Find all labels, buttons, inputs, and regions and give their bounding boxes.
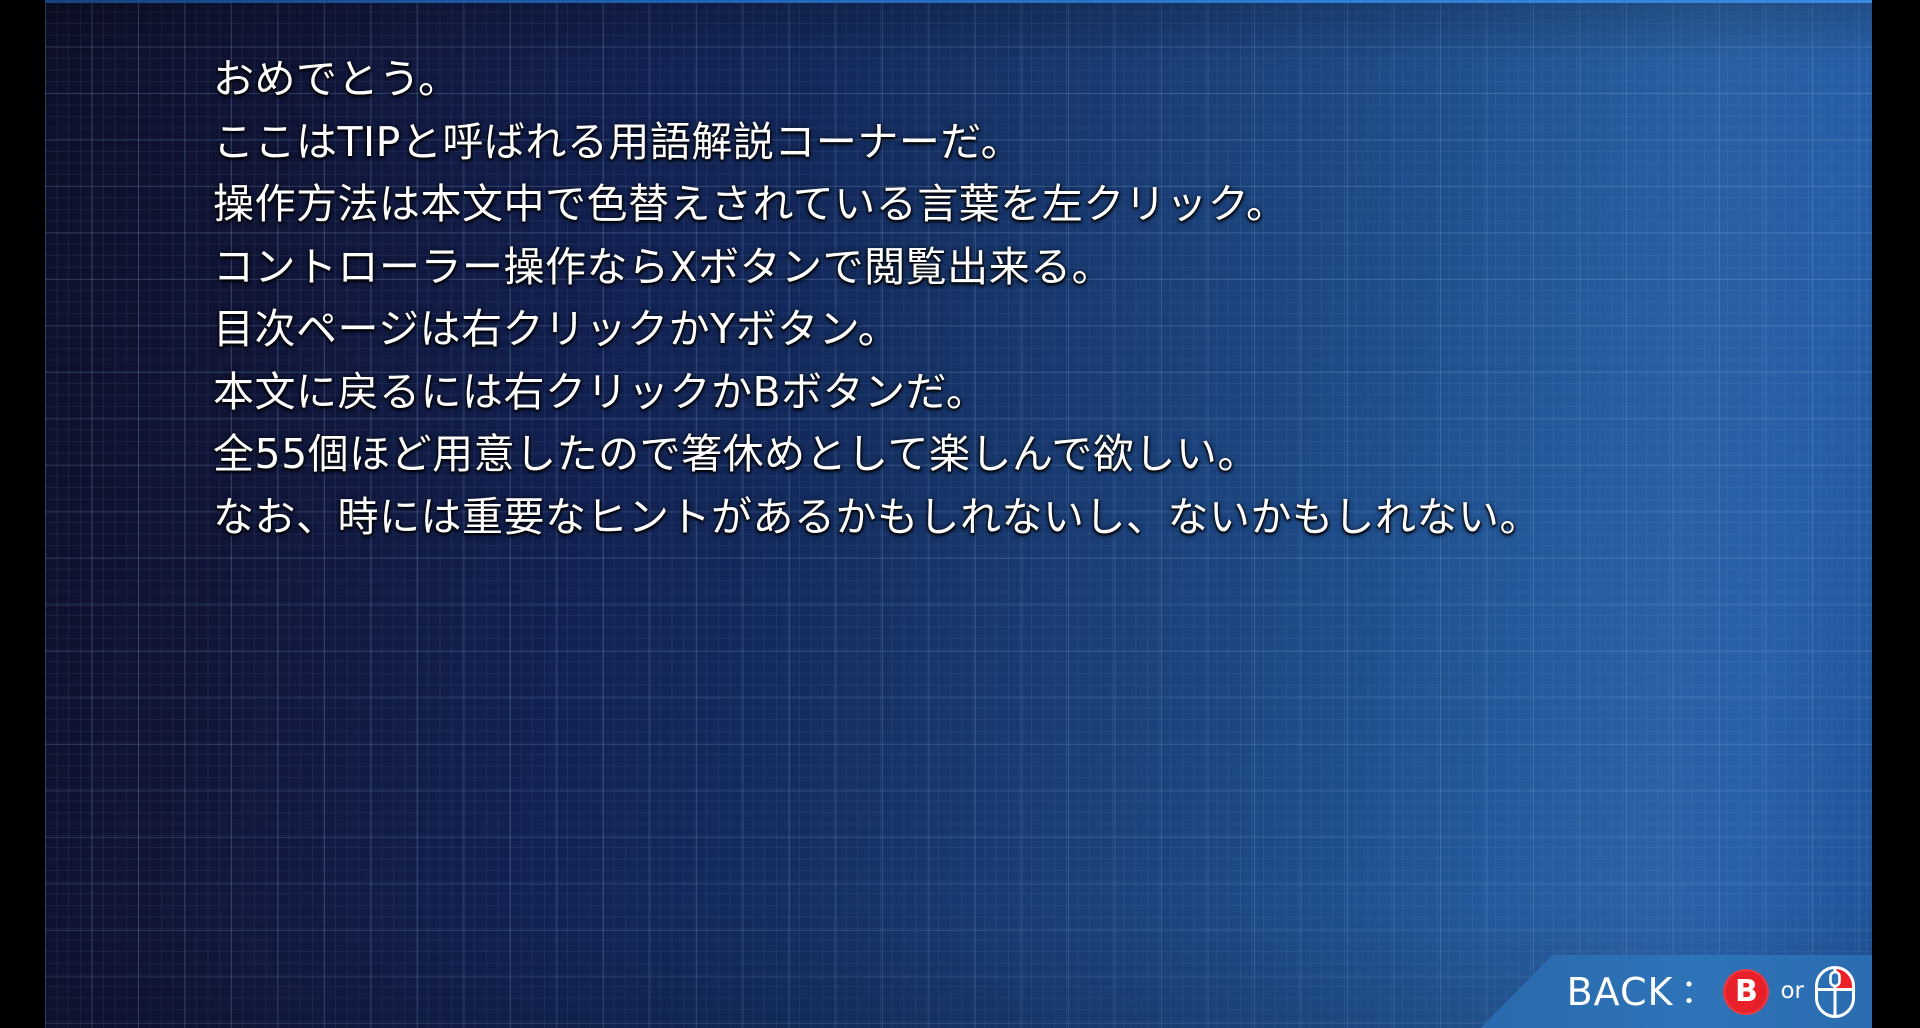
back-conjunction: or: [1780, 980, 1804, 1003]
back-label: BACK: [1567, 973, 1674, 1011]
top-accent-rule: [45, 0, 1872, 3]
tip-line-6: 本文に戻るには右クリックかBボタンだ。: [213, 361, 1813, 424]
gamepad-b-button-icon[interactable]: B: [1723, 969, 1769, 1015]
letterbox-bar-right: [1872, 0, 1920, 1028]
tip-line-8: なお、時には重要なヒントがあるかもしれないし、ないかもしれない。: [213, 486, 1813, 549]
tip-line-5: 目次ページは右クリックかYボタン。: [213, 298, 1813, 361]
game-screen: おめでとう。 ここはTIPと呼ばれる用語解説コーナーだ。 操作方法は本文中で色替…: [0, 0, 1920, 1028]
tip-page-stage: おめでとう。 ここはTIPと呼ばれる用語解説コーナーだ。 操作方法は本文中で色替…: [45, 0, 1872, 1028]
back-separator: ：: [1680, 975, 1714, 1009]
tip-line-7: 全55個ほど用意したので箸休めとして楽しんで欲しい。: [213, 423, 1813, 486]
tip-line-4: コントローラー操作ならXボタンで閲覧出来る。: [213, 236, 1813, 299]
back-prompt-banner[interactable]: BACK ： B or: [1481, 955, 1872, 1028]
tip-line-3: 操作方法は本文中で色替えされている言葉を左クリック。: [213, 173, 1813, 236]
tip-text-block: おめでとう。 ここはTIPと呼ばれる用語解説コーナーだ。 操作方法は本文中で色替…: [213, 48, 1813, 548]
tip-line-2: ここはTIPと呼ばれる用語解説コーナーだ。: [213, 111, 1813, 174]
tip-line-1: おめでとう。: [213, 48, 1813, 111]
mouse-right-click-icon[interactable]: [1814, 965, 1856, 1019]
letterbox-bar-left: [0, 0, 45, 1028]
